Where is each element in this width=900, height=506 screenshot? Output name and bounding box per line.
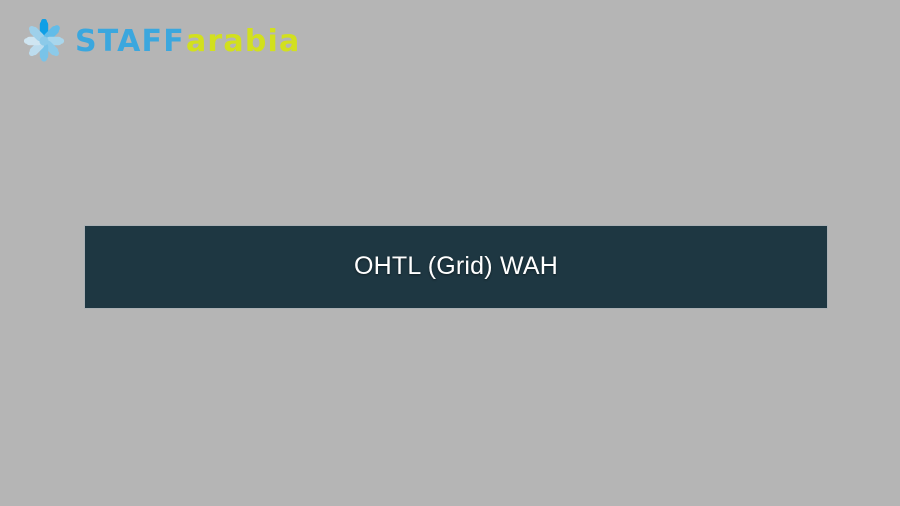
title-banner: OHTL (Grid) WAH (85, 226, 827, 308)
brand-wordmark: STAFFarabia (75, 24, 300, 59)
brand-wordmark-arabia: arabia (186, 24, 301, 59)
staffarabia-snowflake-icon (22, 19, 66, 63)
brand-wordmark-staff: STAFF (75, 24, 185, 59)
slide-title: OHTL (Grid) WAH (85, 251, 827, 281)
presentation-slide: STAFFarabia OHTL (Grid) WAH (0, 0, 900, 506)
brand-logo: STAFFarabia (22, 17, 300, 65)
